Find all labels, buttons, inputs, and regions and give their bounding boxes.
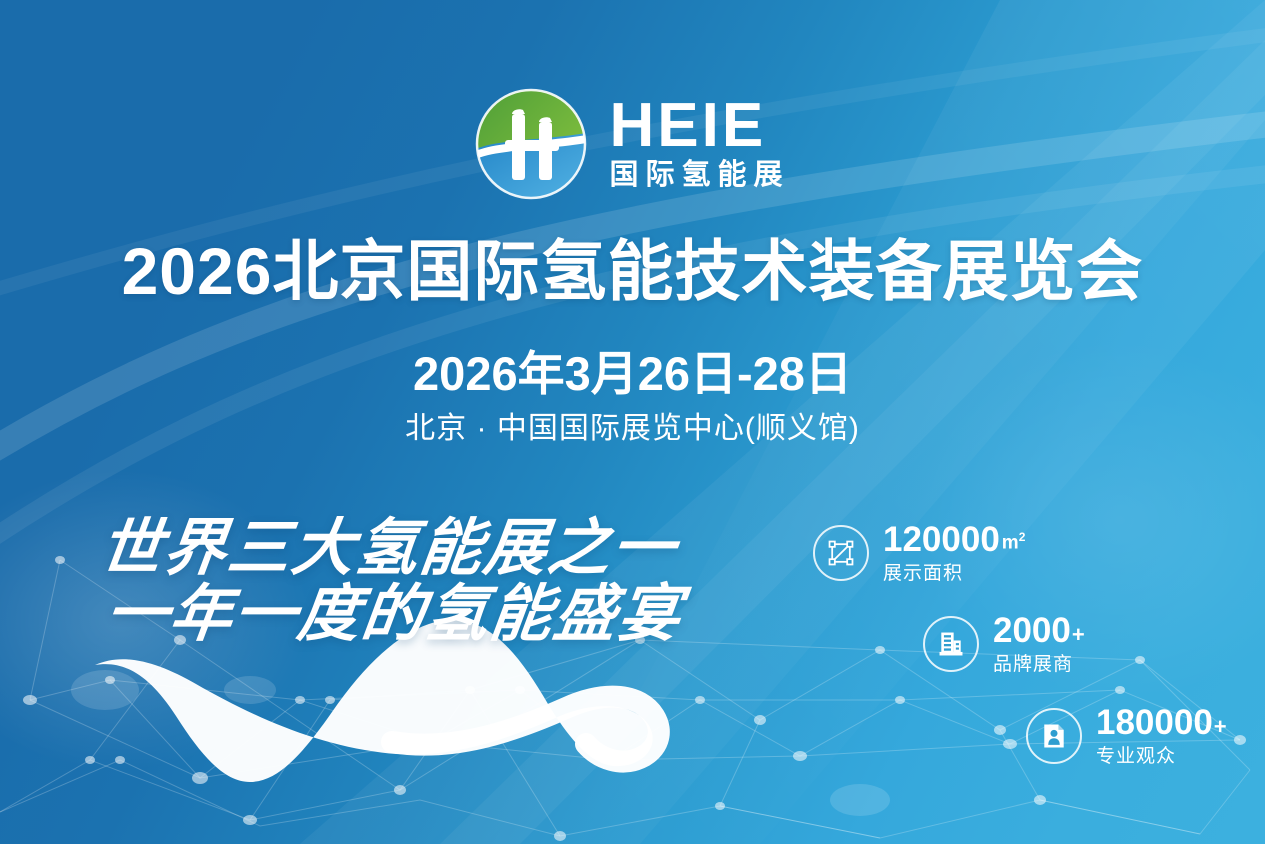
stat-value: 120000 [883,522,1000,557]
stat-label: 品牌展商 [993,655,1085,674]
stat-value: 2000 [993,613,1071,648]
stats-group: 120000 m2 展示面积 [0,0,1265,844]
visitor-badge-icon [1026,708,1082,764]
stat-brand-exhibitors: 2000 + 品牌展商 [923,613,1085,674]
stat-text: 2000 + 品牌展商 [993,613,1085,674]
stat-value-row: 180000 + [1096,705,1227,740]
stat-label: 专业观众 [1096,747,1227,766]
stat-text: 180000 + 专业观众 [1096,705,1227,766]
stat-value-row: 2000 + [993,613,1085,648]
stat-plus: + [1214,716,1227,738]
stat-plus: + [1072,624,1085,646]
event-poster: HEIE 国际氢能展 2026北京国际氢能技术装备展览会 2026年3月26日-… [0,0,1265,844]
building-icon [923,616,979,672]
stat-professional-visitors: 180000 + 专业观众 [1026,705,1227,766]
stat-text: 120000 m2 展示面积 [883,522,1025,583]
stat-value-row: 120000 m2 [883,522,1025,557]
area-measure-icon [813,525,869,581]
stat-label: 展示面积 [883,564,1025,583]
stat-value: 180000 [1096,705,1213,740]
stat-unit: m2 [1002,531,1026,552]
stat-exhibition-area: 120000 m2 展示面积 [813,522,1025,583]
